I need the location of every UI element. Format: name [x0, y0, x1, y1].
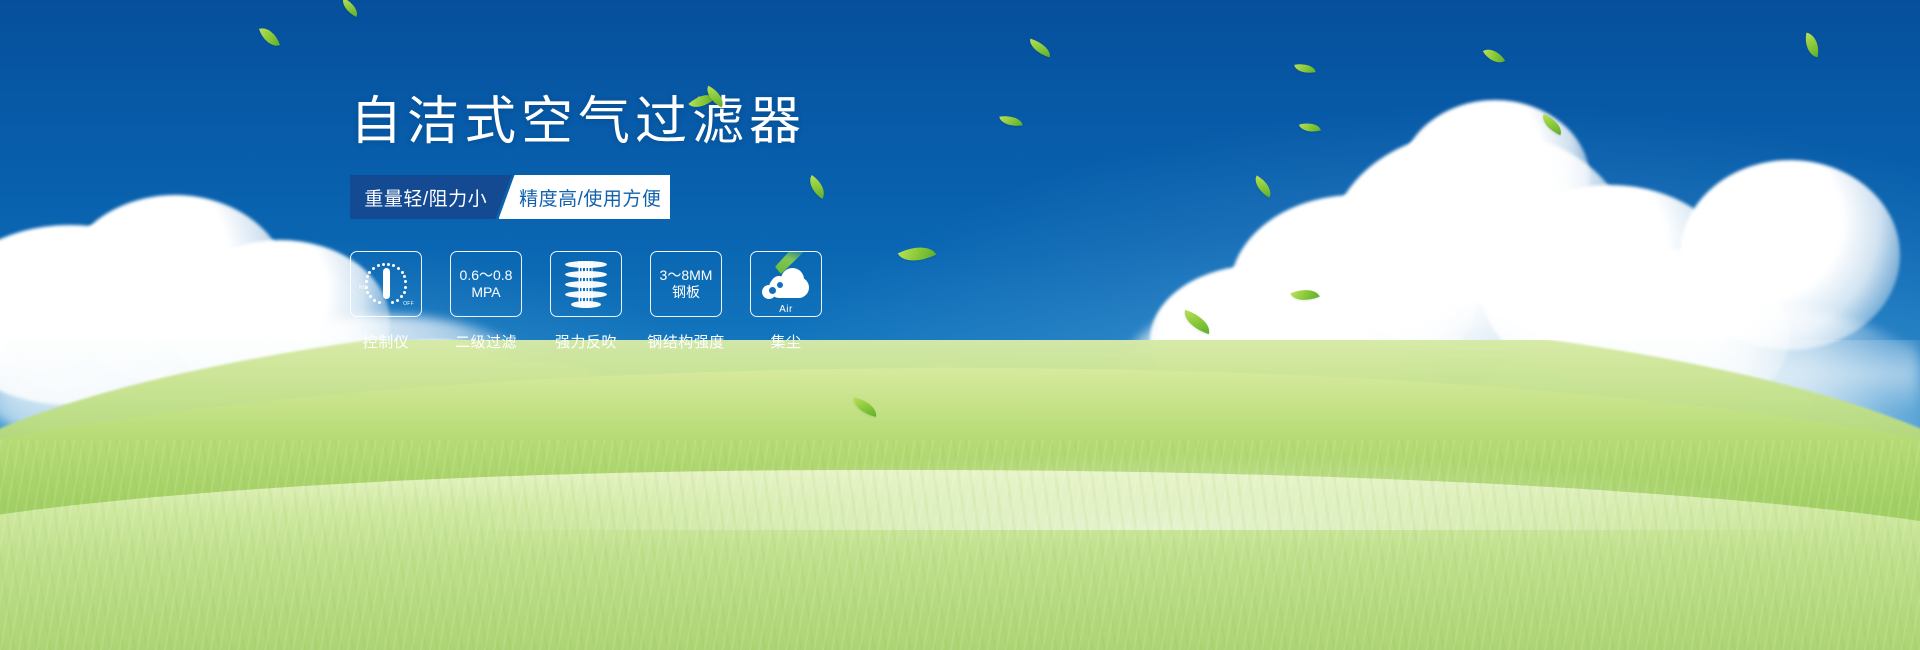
tag-group: 重量轻/阻力小 精度高/使用方便 — [350, 175, 670, 219]
feature-caption: 控制仪 — [363, 331, 410, 352]
feature-item-controller[interactable]: NO OFF 控制仪 — [350, 251, 422, 352]
tag-precision-convenience[interactable]: 精度高/使用方便 — [499, 175, 670, 219]
cloud-icon: Air — [759, 264, 813, 304]
feature-item-strong-blowback[interactable]: 强力反吹 — [550, 251, 622, 352]
feature-list: NO OFF 控制仪 0.6～0.8 MPA 二级过滤 — [350, 251, 1110, 352]
feature-caption: 钢结构强度 — [647, 331, 725, 352]
coil-icon — [563, 259, 609, 309]
gauge-off-label: OFF — [403, 301, 414, 307]
feature-icon-box — [550, 251, 622, 317]
feature-icon-box: 3～8MM 钢板 — [650, 251, 722, 317]
feature-box-text: 0.6～0.8 MPA — [460, 267, 513, 302]
promo-banner: 自洁式空气过滤器 重量轻/阻力小 精度高/使用方便 NO OFF 控制仪 — [0, 0, 1920, 650]
feature-caption: 强力反吹 — [555, 331, 617, 352]
feature-item-dust-collection[interactable]: Air 集尘 — [750, 251, 822, 352]
sprout-icon — [680, 88, 736, 122]
feature-icon-box: NO OFF — [350, 251, 422, 317]
feature-item-steel-strength[interactable]: 3～8MM 钢板 钢结构强度 — [650, 251, 722, 352]
feature-item-two-stage-filter[interactable]: 0.6～0.8 MPA 二级过滤 — [450, 251, 522, 352]
tag-weight-resistance[interactable]: 重量轻/阻力小 — [350, 175, 512, 219]
feature-box-text: 3～8MM 钢板 — [660, 267, 713, 302]
feature-caption: 集尘 — [770, 331, 801, 352]
grass-ground — [0, 340, 1920, 650]
feature-icon-box: Air — [750, 251, 822, 317]
banner-content: 自洁式空气过滤器 重量轻/阻力小 精度高/使用方便 NO OFF 控制仪 — [350, 96, 1110, 352]
feature-icon-box: 0.6～0.8 MPA — [450, 251, 522, 317]
gauge-icon: NO OFF — [360, 259, 412, 309]
cloud-air-label: Air — [779, 304, 793, 315]
feature-caption: 二级过滤 — [455, 331, 517, 352]
